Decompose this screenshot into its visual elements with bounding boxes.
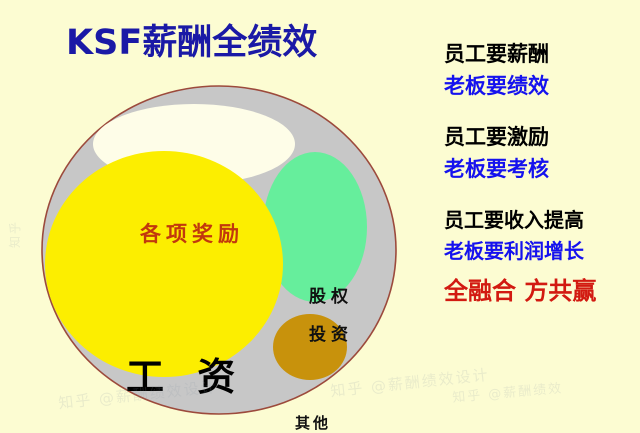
message-column: 员工要薪酬 老板要绩效 员工要激励 老板要考核 员工要收入提高 老板要利润增长 … (444, 44, 640, 306)
label-equity-line2: 投资 (309, 316, 353, 354)
boss-line-2: 老板要考核 (444, 159, 640, 180)
message-pair-3: 员工要收入提高 老板要利润增长 (444, 210, 640, 261)
message-pair-1: 员工要薪酬 老板要绩效 (444, 44, 640, 97)
salary-circle-shape (45, 151, 283, 377)
watermark-text-c: 知乎 @薪酬绩效 (451, 377, 563, 406)
watermark-text-d: 知乎 (6, 220, 23, 248)
employee-line-1: 员工要薪酬 (444, 44, 640, 65)
employee-line-2: 员工要激励 (444, 127, 640, 148)
venn-diagram: 各项奖励 股权 投资 工 资 其他 (22, 82, 422, 420)
label-equity-line1: 股权 (309, 278, 353, 316)
boss-line-3: 老板要利润增长 (444, 241, 640, 261)
label-equity: 股权 投资 (309, 278, 353, 354)
employee-line-3: 员工要收入提高 (444, 210, 640, 230)
label-other: 其他 (295, 412, 331, 433)
boss-line-1: 老板要绩效 (444, 76, 640, 97)
message-pair-2: 员工要激励 老板要考核 (444, 127, 640, 180)
slogan-text: 全融合 方共赢 (444, 271, 640, 306)
label-salary: 工 资 (126, 346, 245, 401)
page-title: KSF薪酬全绩效 (66, 14, 317, 65)
label-bonus: 各项奖励 (140, 218, 244, 248)
